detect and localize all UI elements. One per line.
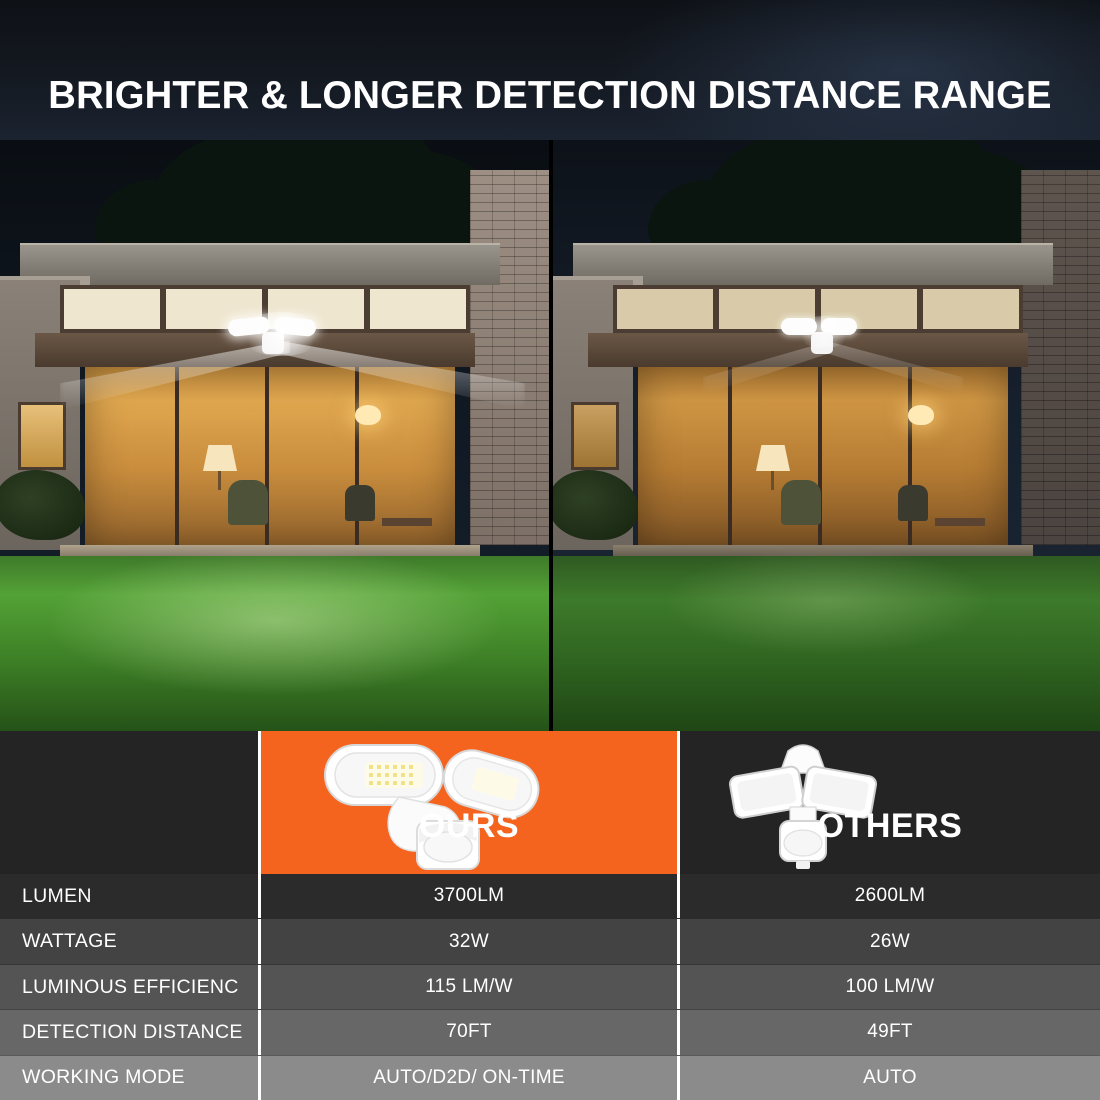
others-column-header: OTHERS	[680, 731, 1100, 874]
three-head-security-light-icon	[321, 735, 551, 873]
spec-value-ours: 70FT	[258, 1010, 680, 1054]
window-mullion	[355, 367, 359, 552]
roof-slab	[573, 245, 1053, 285]
chair	[898, 485, 928, 521]
window-mullion	[728, 367, 732, 552]
sky-glow-decoration	[605, 0, 1100, 140]
spec-label: LUMEN	[0, 874, 258, 918]
lamp-post	[218, 470, 221, 490]
side-window	[571, 402, 619, 470]
armchair	[781, 480, 821, 525]
comparison-header-band: OURS OTHERS	[0, 731, 1100, 874]
roof-slab	[20, 245, 500, 285]
spec-label: WATTAGE	[0, 919, 258, 963]
title-band: BRIGHTER & LONGER DETECTION DISTANCE RAN…	[0, 0, 1100, 140]
side-window	[18, 402, 66, 470]
bench	[382, 518, 432, 526]
spec-value-others: 49FT	[680, 1010, 1100, 1054]
window-mullion	[175, 367, 179, 552]
lawn-light-pool	[45, 546, 505, 696]
brick-pier	[1021, 170, 1100, 545]
spec-value-ours: 115 LM/W	[258, 965, 680, 1009]
spec-label: LUMINOUS EFFICIENC	[0, 965, 258, 1009]
ours-label: OURS	[419, 807, 519, 846]
chair	[345, 485, 375, 521]
table-row: WORKING MODE AUTO/D2D/ ON-TIME AUTO	[0, 1055, 1100, 1100]
two-head-security-light-icon	[728, 737, 878, 871]
brick-pier	[470, 170, 549, 545]
spec-value-others: 2600LM	[680, 874, 1100, 918]
table-row: LUMINOUS EFFICIENC 115 LM/W 100 LM/W	[0, 964, 1100, 1009]
spec-value-ours: 3700LM	[258, 874, 680, 918]
table-lamp	[203, 445, 237, 471]
spec-value-ours: 32W	[258, 919, 680, 963]
others-label: OTHERS	[818, 807, 963, 846]
table-row: WATTAGE 32W 26W	[0, 918, 1100, 963]
spec-value-ours: AUTO/D2D/ ON-TIME	[258, 1056, 680, 1100]
lawn	[0, 556, 549, 731]
ours-column-header: OURS	[258, 731, 680, 874]
table-row: DETECTION DISTANCE 70FT 49FT	[0, 1009, 1100, 1054]
pendant-lamp	[908, 405, 934, 425]
spec-value-others: 26W	[680, 919, 1100, 963]
lamp-post	[771, 470, 774, 490]
bench	[935, 518, 985, 526]
photo-ours-bright	[0, 140, 549, 731]
light-hotspot	[238, 312, 324, 356]
spec-value-others: 100 LM/W	[680, 965, 1100, 1009]
window-mullion	[908, 367, 912, 552]
specification-table: LUMEN 3700LM 2600LM WATTAGE 32W 26W LUMI…	[0, 874, 1100, 1100]
spec-label-column-header	[0, 731, 258, 874]
page-title: BRIGHTER & LONGER DETECTION DISTANCE RAN…	[11, 74, 1089, 118]
table-row: LUMEN 3700LM 2600LM	[0, 874, 1100, 918]
photo-comparison-row	[0, 140, 1100, 731]
armchair	[228, 480, 268, 525]
spec-label: DETECTION DISTANCE	[0, 1010, 258, 1054]
spec-label: WORKING MODE	[0, 1056, 258, 1100]
light-hotspot	[795, 316, 853, 348]
pendant-lamp	[355, 405, 381, 425]
photo-others-dim	[553, 140, 1100, 731]
table-lamp	[756, 445, 790, 471]
lawn	[553, 556, 1100, 731]
spec-value-others: AUTO	[680, 1056, 1100, 1100]
lawn-light-pool	[662, 546, 992, 656]
